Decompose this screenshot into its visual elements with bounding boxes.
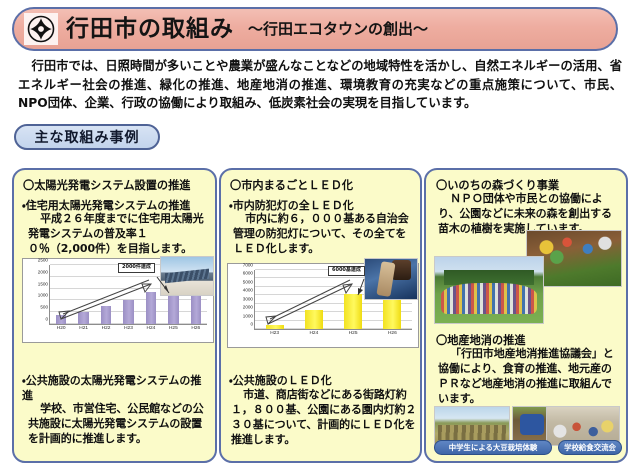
led-item1-body: 市内に約６，０００基ある自治会管理の防犯灯について、その全てをＬＥＤ化します。 [233, 212, 417, 257]
page-title: 行田市の取組み [66, 18, 234, 41]
intro-text: 行田市では、日照時間が多いことや農業が盛んなことなどの地域特性を活かし、自然エネ… [18, 57, 622, 113]
solar-item1-body: 平成２６年度までに住宅用太陽光発電システムの普及率１０％（2,000件）を目指し… [28, 212, 212, 257]
led-chart: 01000200030004000500060007000H23H24H25H2… [227, 263, 419, 348]
caption-soybean: 中学生による大豆栽培体験 [434, 440, 552, 455]
section-heading: 主な取組み事例 [14, 124, 160, 150]
group-photo [434, 256, 544, 324]
section-heading-label: 主な取組み事例 [35, 127, 140, 147]
solar-item2-body: 学校、市営住宅、公民館などの公共施設に太陽光発電システムの設置を計画的に推進しま… [28, 402, 210, 447]
led-item2-body: 市道、商店街などにある街路灯約１，８００基、公園にある園内灯約２３０基について、… [231, 388, 417, 448]
title-banner: 行田市の取組み ～行田エコタウンの創出～ [12, 7, 618, 51]
intro-paragraph: 行田市では、日照時間が多いことや農業が盛んなことなどの地域特性を活かし、自然エネ… [18, 57, 622, 113]
document-page: 行田市の取組み ～行田エコタウンの創出～ 行田市では、日照時間が多いことや農業が… [0, 0, 640, 474]
page-subtitle: ～行田エコタウンの創出～ [248, 22, 428, 37]
led-callout-tail [228, 264, 420, 349]
solar-chart-annotation: 2000件達成 [118, 263, 155, 273]
panel-solar: 〇太陽光発電システム設置の推進 ・住宅用太陽光発電システムの推進 平成２６年度ま… [12, 168, 217, 463]
panel-forest: 〇いのちの森づくり事業 ＮＰＯ団体や市民との協働により、公園などに未来の森を創出… [424, 168, 628, 463]
led-item2-title: ・公共施設のＬＥＤ化 [229, 374, 419, 389]
caption-school-lunch: 学校給食交流会 [558, 440, 622, 455]
solar-item2-title: ・公共施設の太陽光発電システムの推進 [22, 374, 212, 404]
panel-led: 〇市内まるごとＬＥＤ化 ・市内防犯灯の全ＬＥＤ化 市内に約６，０００基ある自治会… [219, 168, 422, 463]
diamond-star-icon [24, 13, 58, 45]
led-chart-annotation: 6000基達成 [328, 266, 365, 276]
local-produce-heading: 〇地産地消の推進 [436, 333, 624, 348]
forest-heading: 〇いのちの森づくり事業 [436, 178, 624, 193]
local-produce-body: 「行田市地産地消推進協議会」と協働により、食育の推進、地元産のＰＲなど地産地消の… [438, 347, 622, 407]
led-panel-heading: 〇市内まるごとＬＥＤ化 [230, 178, 416, 193]
solar-chart: 05001000150020002500H20H21H22H23H24H25H2… [22, 258, 214, 343]
solar-panel-heading: 〇太陽光発電システム設置の推進 [23, 178, 211, 193]
